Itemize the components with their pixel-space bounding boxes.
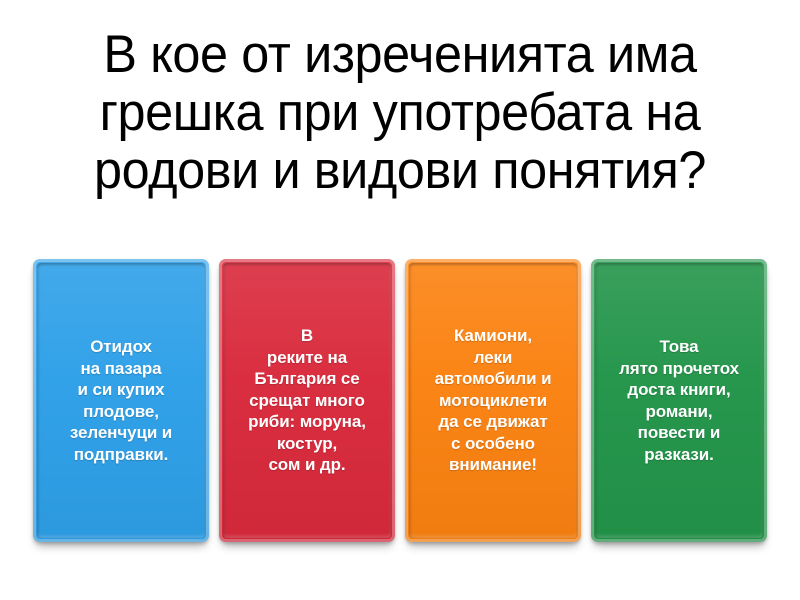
answer-option-2-label: В реките на България се срещат много риб… <box>246 325 368 476</box>
answer-option-3-label: Камиони, леки автомобили и мотоциклети д… <box>433 325 554 476</box>
answer-option-1[interactable]: Отидох на пазара и си купих плодове, зел… <box>33 259 209 542</box>
question-line-1: В кое от изреченията има <box>20 26 780 84</box>
answer-option-2[interactable]: В реките на България се срещат много риб… <box>219 259 395 542</box>
answer-option-3[interactable]: Камиони, леки автомобили и мотоциклети д… <box>405 259 581 542</box>
answer-option-4[interactable]: Това лято прочетох доста книги, романи, … <box>591 259 767 542</box>
question-line-2: грешка при употребата на <box>20 84 780 142</box>
question-line-3: родови и видови понятия? <box>20 142 780 200</box>
answer-options-row: Отидох на пазара и си купих плодове, зел… <box>33 259 767 544</box>
answer-option-4-label: Това лято прочетох доста книги, романи, … <box>617 336 741 465</box>
question-area: В кое от изреченията има грешка при упот… <box>0 26 800 200</box>
answer-option-1-label: Отидох на пазара и си купих плодове, зел… <box>68 336 174 465</box>
